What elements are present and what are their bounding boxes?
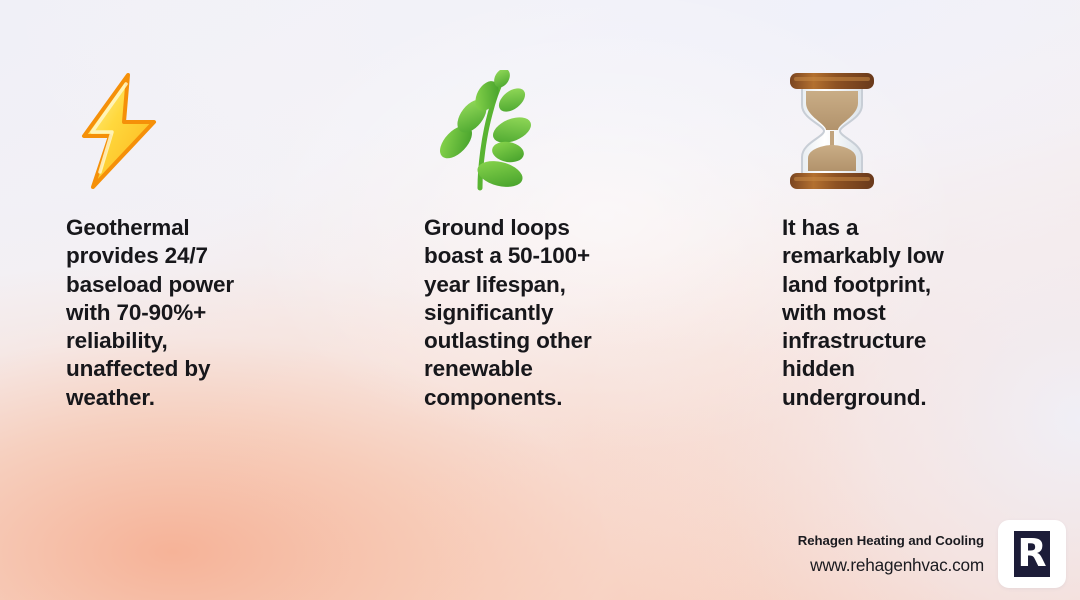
fact-column-reliability: Geothermal provides 24/7 baseload power … [66, 0, 356, 600]
fact-text: Geothermal provides 24/7 baseload power … [66, 214, 336, 412]
fact-text: Ground loops boast a 50-100+ year lifesp… [424, 214, 694, 412]
brand-name: Rehagen Heating and Cooling [798, 534, 984, 547]
brand-website[interactable]: www.rehagenhvac.com [810, 557, 984, 574]
high-voltage-bolt-icon [66, 66, 192, 196]
logo-letter: R [1017, 534, 1046, 572]
herb-leaf-icon [424, 66, 550, 196]
fact-text: It has a remarkably low land footprint, … [782, 214, 1052, 412]
company-logo: R [998, 520, 1066, 588]
fact-columns: Geothermal provides 24/7 baseload power … [0, 0, 1080, 600]
hourglass-flowing-sand-icon [782, 66, 908, 196]
logo-mark: R [1014, 531, 1050, 577]
fact-column-lifespan: Ground loops boast a 50-100+ year lifesp… [424, 0, 714, 600]
infographic-canvas: Geothermal provides 24/7 baseload power … [0, 0, 1080, 600]
fact-column-footprint: It has a remarkably low land footprint, … [782, 0, 1072, 600]
footer-text-block: Rehagen Heating and Cooling www.rehagenh… [798, 534, 984, 574]
footer-branding: Rehagen Heating and Cooling www.rehagenh… [798, 520, 1066, 588]
